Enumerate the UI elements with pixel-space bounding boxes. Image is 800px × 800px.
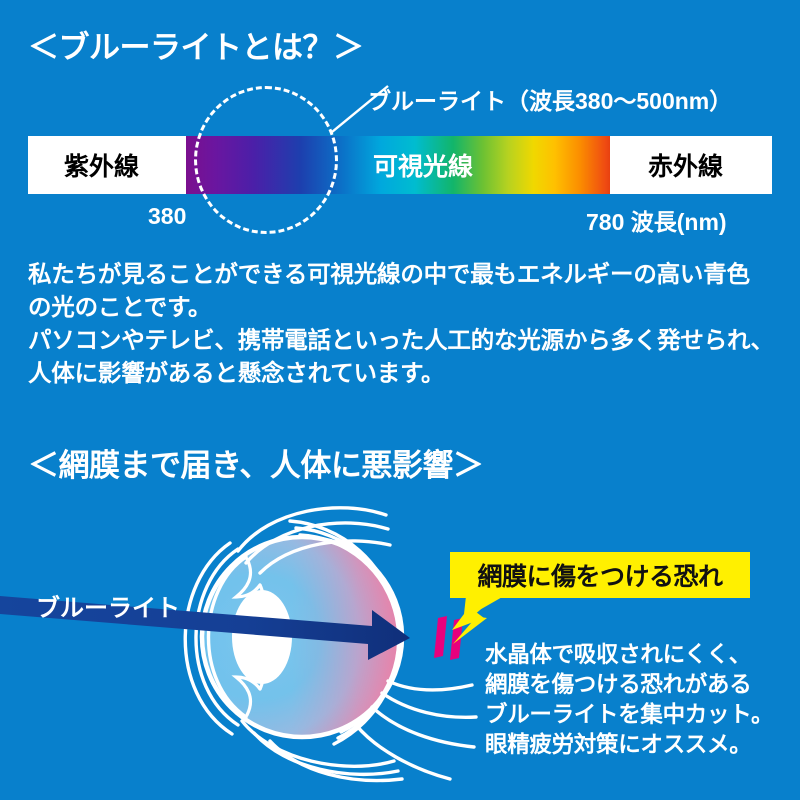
page-title-blue-light: ＜ブルーライトとは？＞: [28, 22, 364, 67]
retina-damage-callout: 網膜に傷をつける恐れ: [450, 552, 750, 598]
retina-damage-callout-label: 網膜に傷をつける恐れ: [450, 552, 750, 598]
callout-tail: [452, 596, 512, 632]
spectrum-label-infrared: 赤外線: [648, 147, 723, 183]
product-feature-description: 水晶体で吸収されにくく、 網膜を傷つける恐れがある ブルーライトを集中カット。 …: [485, 640, 795, 760]
page-title-retina-damage: ＜網膜まで届き、人体に悪影響＞: [28, 440, 483, 485]
blue-light-arrow-label: ブルーライト: [36, 588, 180, 623]
blue-light-description: 私たちが見ることができる可視光線の中で最もエネルギーの高い青色 の光のことです。…: [28, 258, 776, 390]
blue-light-range-callout: ブルーライト（波長380〜500nm）: [368, 82, 732, 116]
wavelength-tick-380: 380: [148, 203, 186, 230]
spectrum-label-visible-light: 可視光線: [373, 147, 473, 183]
spectrum-diagram: 紫外線 可視光線 赤外線: [28, 136, 772, 194]
infographic-root: ＜ブルーライトとは？＞ 紫外線 可視光線 赤外線 380 780 波長(nm) …: [0, 0, 800, 800]
wavelength-tick-780: 780 波長(nm): [586, 203, 727, 237]
spectrum-label-ultraviolet: 紫外線: [64, 147, 139, 183]
